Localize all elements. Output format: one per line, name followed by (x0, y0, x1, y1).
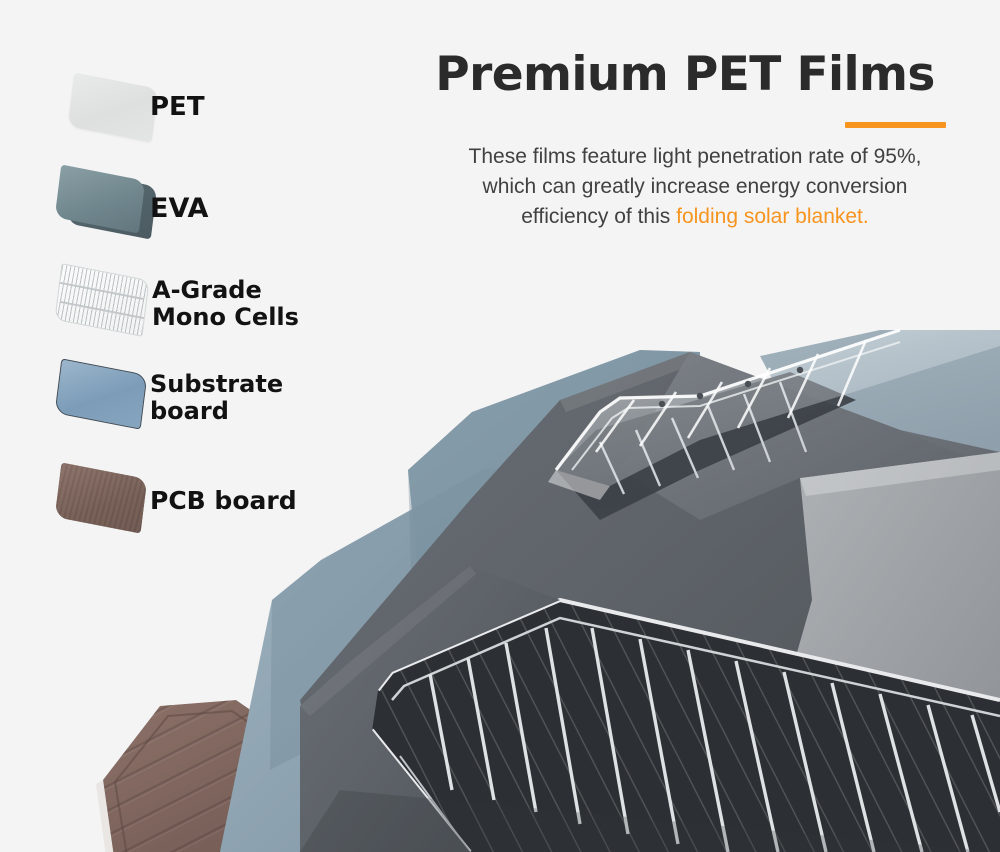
legend-label-mono-cells: A-Grade Mono Cells (152, 277, 299, 331)
headline-block: Premium PET Films (400, 50, 970, 100)
legend-swatch-eva (58, 172, 144, 228)
legend-label-substrate: Substrate board (150, 371, 283, 425)
mono-cells-sheet-icon (54, 263, 149, 337)
legend-swatch-substrate (58, 366, 144, 422)
description-line-2: which can greatly increase energy conver… (483, 175, 908, 198)
legend-swatch-mono-cells (58, 271, 146, 329)
legend-label-eva: EVA (150, 194, 208, 224)
page-title: Premium PET Films (400, 50, 970, 100)
eva-sheet-front-icon (55, 164, 146, 233)
infographic-canvas: PET EVA A-Grade Mono Cells Substrate boa… (0, 0, 1000, 852)
legend-swatch-pet (71, 80, 155, 135)
description-line-3-prefix: efficiency of this (521, 205, 676, 228)
description-block: These films feature light penetration ra… (415, 142, 975, 231)
legend-label-pet: PET (150, 93, 205, 122)
description-highlight: folding solar blanket. (676, 205, 869, 228)
pcb-sheet-icon (55, 462, 148, 533)
accent-underline (845, 122, 946, 128)
legend-label-pcb: PCB board (150, 487, 297, 515)
layer-legend: PET EVA A-Grade Mono Cells Substrate boa… (0, 0, 340, 560)
description-line-1: These films feature light penetration ra… (469, 145, 922, 168)
substrate-sheet-icon (55, 358, 148, 429)
pet-sheet-icon (68, 72, 159, 142)
legend-swatch-pcb (58, 470, 144, 526)
